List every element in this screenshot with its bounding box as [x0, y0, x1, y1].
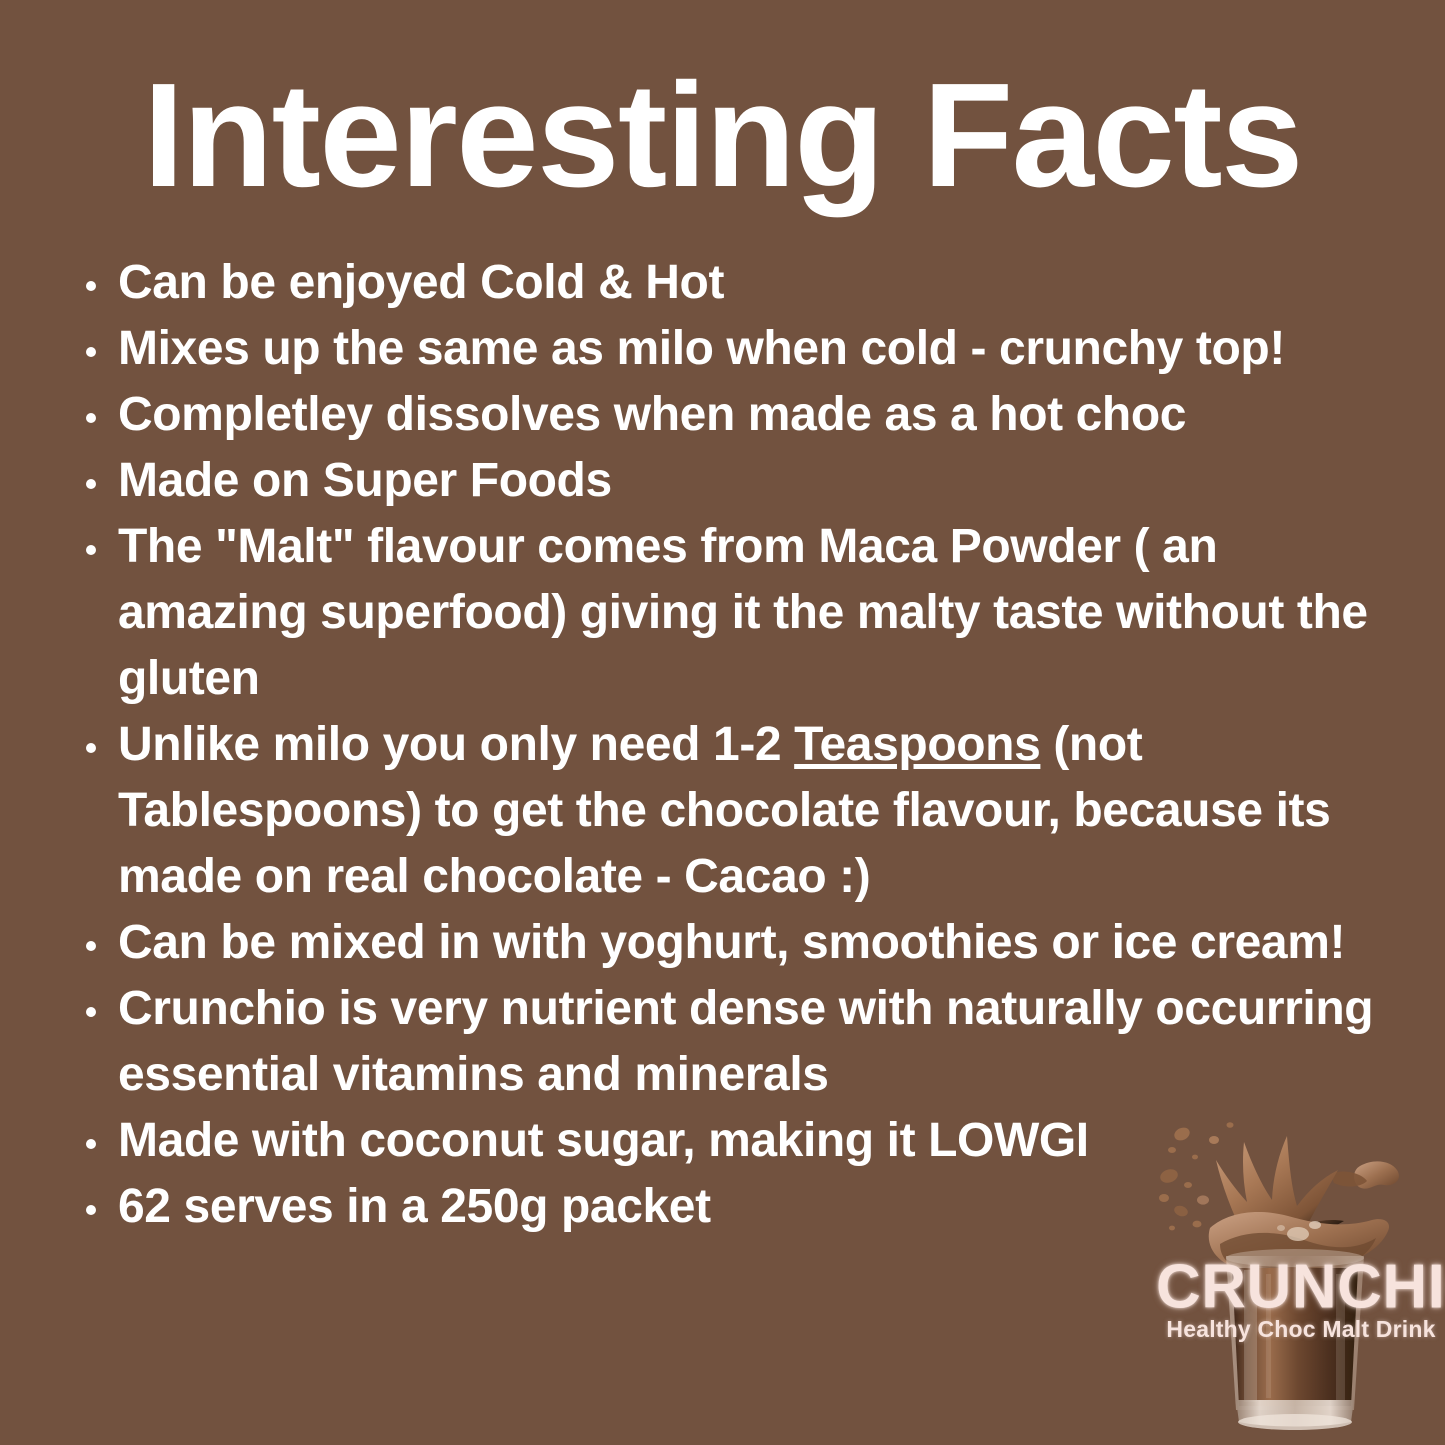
fact-text: Can be enjoyed Cold & Hot [118, 256, 724, 309]
fact-item-super-foods: Made on Super Foods [78, 448, 1388, 514]
logo-wordmark-text: CRUNCHIO [1156, 1253, 1445, 1322]
bullet-dot-icon [86, 347, 96, 357]
fact-item-cold-hot: Can be enjoyed Cold & Hot [78, 250, 1388, 316]
bullet-dot-icon [86, 413, 96, 423]
bullet-dot-icon [86, 1007, 96, 1017]
fact-text: Made with coconut sugar, making it LOWGI [118, 1114, 1089, 1167]
fact-text: Mixes up the same as milo when cold - cr… [118, 322, 1285, 375]
fact-item-maca-powder: The "Malt" flavour comes from Maca Powde… [78, 514, 1388, 712]
fact-text-emphasis: Teaspoons [794, 718, 1040, 771]
fact-item-mixes-like-milo: Mixes up the same as milo when cold - cr… [78, 316, 1388, 382]
bullet-dot-icon [86, 1205, 96, 1215]
fact-text: The "Malt" flavour comes from Maca Powde… [118, 520, 1368, 705]
bullet-dot-icon [86, 281, 96, 291]
fact-text: Made on Super Foods [118, 454, 612, 507]
bullet-dot-icon [86, 479, 96, 489]
bullet-dot-icon [86, 941, 96, 951]
fact-text: Can be mixed in with yoghurt, smoothies … [118, 916, 1345, 969]
interesting-facts-poster: Interesting Facts Can be enjoyed Cold & … [0, 0, 1445, 1445]
bullet-dot-icon [86, 545, 96, 555]
fact-item-dissolves-hot: Completley dissolves when made as a hot … [78, 382, 1388, 448]
brand-logo: CRUNCHIO® Healthy Choc Malt Drink [1148, 1078, 1445, 1445]
fact-text: 62 serves in a 250g packet [118, 1180, 711, 1233]
logo-tagline: Healthy Choc Malt Drink [1156, 1316, 1445, 1342]
fact-item-yoghurt-smoothies: Can be mixed in with yoghurt, smoothies … [78, 910, 1388, 976]
bullet-dot-icon [86, 1139, 96, 1149]
fact-text-pre: Unlike milo you only need 1-2 [118, 718, 794, 771]
fact-item-teaspoons: Unlike milo you only need 1-2 Teaspoons … [78, 712, 1388, 910]
fact-text: Completley dissolves when made as a hot … [118, 388, 1186, 441]
logo-wordmark: CRUNCHIO® [1156, 1250, 1445, 1319]
bullet-dot-icon [86, 743, 96, 753]
page-title: Interesting Facts [0, 62, 1445, 210]
